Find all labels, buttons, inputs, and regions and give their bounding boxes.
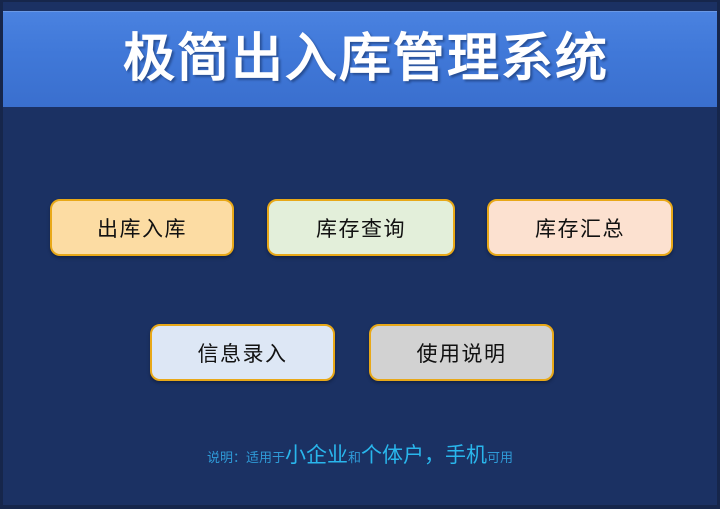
app-window: 极简出入库管理系统 出库入库 库存查询 库存汇总 信息录入 使用说明 说明：适用… xyxy=(0,0,720,509)
button-instructions[interactable]: 使用说明 xyxy=(369,324,554,381)
button-stock-summary[interactable]: 库存汇总 xyxy=(487,199,673,256)
footer-note-segment-intro: 说明：适用于 xyxy=(207,451,285,466)
menu-row-secondary: 信息录入 使用说明 xyxy=(150,324,554,381)
footer-note-segment-conjunction: 和 xyxy=(348,451,361,466)
button-instructions-label: 使用说明 xyxy=(417,338,507,368)
button-info-entry-label: 信息录入 xyxy=(198,338,288,368)
page-title: 极简出入库管理系统 xyxy=(111,33,609,85)
footer-note-segment-sole-proprietor-mobile: 个体户，手机 xyxy=(361,443,487,467)
footer-note-segment-available: 可用 xyxy=(487,451,513,466)
button-info-entry[interactable]: 信息录入 xyxy=(150,324,335,381)
button-outbound-inbound-label: 出库入库 xyxy=(97,213,187,243)
button-outbound-inbound[interactable]: 出库入库 xyxy=(50,199,234,256)
button-stock-query-label: 库存查询 xyxy=(316,213,406,243)
footer-note: 说明：适用于小企业和个体户，手机可用 xyxy=(3,445,717,466)
button-stock-query[interactable]: 库存查询 xyxy=(267,199,455,256)
header-banner: 极简出入库管理系统 xyxy=(3,11,717,107)
button-stock-summary-label: 库存汇总 xyxy=(535,213,625,243)
footer-note-segment-small-business: 小企业 xyxy=(285,443,348,467)
menu-row-primary: 出库入库 库存查询 库存汇总 xyxy=(50,199,673,256)
